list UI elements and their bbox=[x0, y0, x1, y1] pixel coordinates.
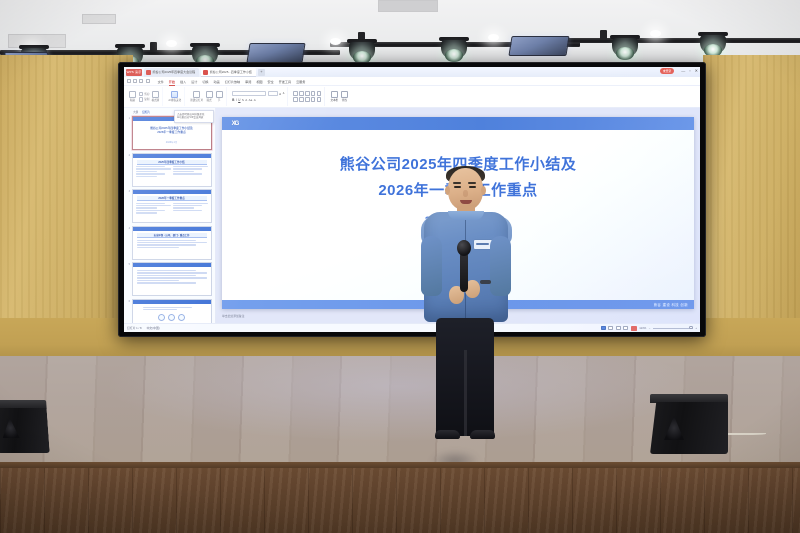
presenter-brow-left bbox=[453, 182, 461, 184]
strikethrough-button[interactable]: S bbox=[242, 98, 244, 102]
ribbon-tab-security[interactable]: 安全 bbox=[268, 79, 274, 84]
line-spacing-icon[interactable] bbox=[317, 91, 322, 96]
decrease-indent-icon[interactable] bbox=[305, 91, 310, 96]
italic-button[interactable]: I bbox=[236, 98, 237, 102]
ribbon-tab-cloud[interactable]: 云服务 bbox=[296, 79, 305, 84]
microphone-body bbox=[460, 252, 468, 292]
minimize-icon[interactable]: — bbox=[681, 68, 685, 74]
slideshow-play-icon[interactable] bbox=[631, 326, 637, 331]
ribbon-tab-transition[interactable]: 切换 bbox=[202, 79, 208, 84]
thumb-text-line bbox=[136, 210, 166, 211]
slide-thumbnail-5[interactable] bbox=[132, 262, 212, 296]
thumb-text-line bbox=[137, 242, 207, 243]
copy-label: 复制 bbox=[144, 97, 149, 101]
underline-button[interactable]: U bbox=[238, 98, 240, 102]
led-display-bezel: WPS 演示 熊谷公司2025年四季度大会议程 熊谷公司2025...四季度工作… bbox=[118, 62, 706, 337]
layout-button[interactable]: 版式 bbox=[205, 91, 213, 103]
status-bar-right: 113% − + bbox=[601, 326, 697, 331]
thumb-text-line bbox=[137, 275, 197, 276]
diagram-shape bbox=[158, 314, 165, 321]
align-right-icon[interactable] bbox=[305, 97, 310, 102]
textbox-icon bbox=[331, 91, 338, 98]
editor-workarea: 大纲 幻灯片 点击即可开启AI排版美化 AI功能仅对VIP会员开放 1 熊谷公司… bbox=[124, 108, 700, 323]
thumb-text-line bbox=[136, 168, 171, 169]
thumb-text-line bbox=[136, 171, 157, 172]
font-family-select[interactable] bbox=[232, 91, 266, 96]
diagram-shape bbox=[168, 314, 175, 321]
thumb-text-line bbox=[143, 307, 192, 308]
zoom-slider-knob[interactable] bbox=[689, 326, 693, 330]
font-format-row[interactable]: B I U S A Aa A bbox=[232, 98, 284, 102]
text-color-button[interactable]: A bbox=[254, 98, 256, 102]
increase-font-icon[interactable]: A bbox=[279, 92, 281, 96]
presenter-ear-left bbox=[445, 186, 450, 195]
thumb-column bbox=[173, 166, 208, 178]
thumbnail-row[interactable]: 5 bbox=[127, 262, 213, 296]
presentation-room-scene: WPS 演示 熊谷公司2025年四季度大会议程 熊谷公司2025...四季度工作… bbox=[0, 0, 800, 533]
thumb-text-line bbox=[137, 247, 179, 248]
thumb-text-line bbox=[136, 166, 166, 167]
cut-icon bbox=[139, 92, 144, 97]
ai-beautify-button[interactable]: AI排版美化 bbox=[168, 91, 181, 103]
document-tab-label: 熊谷公司2025年四季度大会议程 bbox=[153, 70, 196, 74]
thumbnail-number: 4 bbox=[127, 226, 130, 230]
paste-icon bbox=[129, 91, 136, 98]
cut-button[interactable]: 剪切 bbox=[139, 92, 150, 97]
login-button[interactable]: 未登录 bbox=[660, 68, 674, 74]
textbox-button[interactable]: 文本框 bbox=[330, 91, 338, 103]
led-panel-light bbox=[508, 36, 569, 56]
thumb-column bbox=[173, 203, 208, 215]
document-tab-2[interactable]: 熊谷公司2025...四季度工作小结 bbox=[201, 68, 256, 77]
thumb-text-line bbox=[136, 207, 157, 208]
format-painter-icon bbox=[152, 91, 159, 98]
ribbon-group-font: A A B I U S A Aa A bbox=[230, 87, 288, 106]
save-icon[interactable] bbox=[127, 79, 131, 83]
floor-monitor-speaker-left bbox=[0, 400, 50, 456]
thumb-text-line bbox=[173, 207, 194, 208]
spotlight-lens bbox=[616, 47, 634, 60]
redo-icon[interactable] bbox=[139, 79, 143, 83]
presenter-shoe-left bbox=[435, 430, 460, 439]
presentation-file-icon bbox=[146, 70, 151, 75]
thumb-header-band bbox=[133, 263, 211, 267]
thumb-text-line bbox=[137, 272, 207, 273]
slide-thumbnail-panel[interactable]: 大纲 幻灯片 点击即可开启AI排版美化 AI功能仅对VIP会员开放 1 熊谷公司… bbox=[124, 108, 216, 323]
wps-presentation-window[interactable]: WPS 演示 熊谷公司2025年四季度大会议程 熊谷公司2025...四季度工作… bbox=[124, 67, 700, 332]
thumb-text-line bbox=[137, 280, 179, 281]
thumb-date: 2026年1月 bbox=[133, 140, 211, 144]
ribbon-tab-animation[interactable]: 动画 bbox=[214, 79, 220, 84]
ribbon-toolbar[interactable]: 粘贴 剪切 复制 bbox=[124, 86, 700, 108]
ribbon-group-paragraph bbox=[291, 87, 325, 106]
window-controls: 未登录 — ▫ ✕ bbox=[660, 68, 698, 74]
copy-button[interactable]: 复制 bbox=[139, 97, 150, 102]
presenter-sleeve-left bbox=[421, 236, 442, 296]
undo-icon[interactable] bbox=[133, 79, 137, 83]
char-spacing-button[interactable]: Aa bbox=[249, 98, 253, 102]
thumb-title: 2025年四季度工作小结 bbox=[137, 160, 207, 165]
ribbon-group-editing: 文本框 查找 bbox=[328, 87, 351, 106]
thumb-body bbox=[143, 307, 201, 311]
notes-view-icon[interactable] bbox=[623, 326, 628, 330]
thumb-text-line bbox=[136, 173, 166, 174]
ribbon-tab-review[interactable]: 审阅 bbox=[245, 79, 251, 84]
ribbon-group-ai: AI排版美化 bbox=[166, 87, 185, 106]
ceiling-downlight bbox=[330, 38, 341, 45]
ribbon-group-clipboard: 粘贴 剪切 复制 bbox=[126, 87, 163, 106]
ribbon-tab-developer[interactable]: 开发工具 bbox=[279, 79, 291, 84]
speaker-cable bbox=[726, 432, 766, 435]
presenter-ear-right bbox=[481, 186, 486, 195]
ceiling-downlight bbox=[166, 40, 177, 47]
number-list-icon[interactable] bbox=[299, 91, 304, 96]
thumbnail-row[interactable]: 6 bbox=[127, 299, 213, 324]
section-label: 节 bbox=[218, 98, 221, 102]
align-left-icon[interactable] bbox=[293, 97, 298, 102]
floor-monitor-speaker-right bbox=[650, 394, 728, 456]
bullet-list-icon[interactable] bbox=[293, 91, 298, 96]
format-painter-button[interactable]: 格式刷 bbox=[151, 91, 159, 103]
cut-label: 剪切 bbox=[144, 92, 149, 96]
truss-riser bbox=[600, 30, 607, 40]
thumbnail-row[interactable]: 3 2026年一季度工作重点 bbox=[127, 189, 213, 223]
ribbon-tab-strip[interactable]: 文件 开始 插入 设计 切换 动画 幻灯片放映 审阅 视图 安全 开发工具 云服… bbox=[124, 77, 700, 86]
thumb-title-line2: 2026年一季度工作重点 bbox=[133, 130, 211, 134]
thumb-text-line bbox=[173, 173, 203, 174]
presenter-sleeve-right bbox=[490, 236, 511, 296]
textbox-label: 文本框 bbox=[330, 98, 338, 102]
find-label: 查找 bbox=[342, 98, 347, 102]
notes-placeholder: 单击此处添加备注 bbox=[222, 314, 244, 318]
thumb-text-line bbox=[137, 240, 197, 241]
layout-icon bbox=[206, 91, 213, 98]
slide-sorter-icon[interactable] bbox=[608, 326, 613, 330]
presenter-nose bbox=[463, 190, 468, 197]
presenter-leg-gap bbox=[464, 350, 467, 436]
tooltip-line-2: AI功能仅对VIP会员开放 bbox=[177, 116, 211, 119]
slide-thumbnail-4[interactable]: 安全环保（公司、部门）重点工作 bbox=[132, 226, 212, 260]
thumbnail-number: 2 bbox=[127, 153, 130, 157]
zoom-slider[interactable] bbox=[653, 328, 693, 329]
reading-view-icon[interactable] bbox=[616, 326, 621, 330]
bold-button[interactable]: B bbox=[232, 98, 234, 102]
spotlight-lens bbox=[445, 49, 463, 62]
speaker-top-panel bbox=[650, 394, 728, 403]
close-icon[interactable]: ✕ bbox=[695, 68, 698, 74]
thumbnail-number: 6 bbox=[127, 299, 130, 303]
speaker-cabinet bbox=[650, 402, 728, 454]
increase-indent-icon[interactable] bbox=[311, 91, 316, 96]
diagram-shape bbox=[178, 314, 185, 321]
thumbnail-row[interactable]: 2 2025年四季度工作小结 bbox=[127, 153, 213, 187]
ribbon-tab-slideshow[interactable]: 幻灯片放映 bbox=[225, 79, 240, 84]
led-display-screen[interactable]: WPS 演示 熊谷公司2025年四季度大会议程 熊谷公司2025...四季度工作… bbox=[124, 67, 700, 332]
window-titlebar: WPS 演示 熊谷公司2025年四季度大会议程 熊谷公司2025...四季度工作… bbox=[124, 67, 700, 77]
ribbon-tab-design[interactable]: 设计 bbox=[191, 79, 197, 84]
document-tab-label: 熊谷公司2025...四季度工作小结 bbox=[210, 70, 252, 74]
thumb-text-line bbox=[173, 171, 194, 172]
ai-beautify-tooltip: 点击即可开启AI排版美化 AI功能仅对VIP会员开放 bbox=[174, 110, 214, 123]
ceiling-downlight bbox=[488, 34, 499, 41]
print-icon[interactable] bbox=[146, 79, 150, 83]
company-logo: XG bbox=[227, 119, 243, 128]
ribbon-tab-view[interactable]: 视图 bbox=[256, 79, 262, 84]
thumb-text-line bbox=[173, 210, 203, 211]
thumb-text-line bbox=[173, 166, 208, 167]
led-panel-light bbox=[246, 43, 305, 63]
thumb-column bbox=[136, 166, 171, 178]
presenter bbox=[418, 168, 514, 488]
normal-view-icon[interactable] bbox=[601, 326, 606, 330]
thumbnail-number: 3 bbox=[127, 189, 130, 193]
thumbnail-number: 1 bbox=[127, 116, 130, 120]
ceiling-vent bbox=[82, 14, 116, 24]
section-icon bbox=[216, 91, 223, 98]
truss-riser bbox=[150, 42, 157, 52]
thumb-text-line bbox=[173, 205, 203, 206]
thumb-title: 2026年一季度工作重点 bbox=[137, 196, 207, 201]
new-slide-label: 新建幻灯片 bbox=[190, 98, 203, 102]
paste-label: 粘贴 bbox=[130, 98, 135, 102]
thumbnail-number: 5 bbox=[127, 262, 130, 266]
thumb-text-line bbox=[173, 203, 208, 204]
wps-logo: WPS 演示 bbox=[126, 69, 142, 76]
thumb-body bbox=[137, 240, 207, 249]
section-button[interactable]: 节 bbox=[215, 91, 223, 103]
thumb-text-line bbox=[136, 203, 166, 204]
copy-icon bbox=[139, 97, 144, 102]
presenter-brow-right bbox=[468, 182, 476, 184]
wall-panel-left bbox=[0, 55, 133, 355]
ribbon-tab-file[interactable]: 文件 bbox=[158, 79, 164, 84]
slides-view-tab[interactable]: 幻灯片 bbox=[142, 110, 150, 114]
zoom-out-button[interactable]: − bbox=[649, 326, 651, 330]
outline-view-tab[interactable]: 大纲 bbox=[133, 110, 138, 114]
slide-thumbnail-3[interactable]: 2026年一季度工作重点 bbox=[132, 189, 212, 223]
format-painter-label: 格式刷 bbox=[151, 98, 159, 102]
presenter-shoe-right bbox=[470, 430, 495, 439]
speaker-top-panel bbox=[0, 400, 47, 409]
presenter-collar bbox=[448, 211, 484, 220]
stage-front-panel bbox=[0, 468, 800, 533]
font-size-select[interactable] bbox=[268, 91, 278, 96]
zoom-level-label[interactable]: 113% bbox=[639, 326, 646, 330]
text-direction-icon[interactable] bbox=[317, 97, 322, 102]
find-button[interactable]: 查找 bbox=[340, 91, 348, 103]
new-tab-button[interactable]: + bbox=[258, 69, 265, 76]
decrease-font-icon[interactable]: A bbox=[283, 92, 285, 95]
slide-thumbnail-2[interactable]: 2025年四季度工作小结 bbox=[132, 153, 212, 187]
language-indicator[interactable]: 中文(中国) bbox=[147, 326, 160, 330]
find-icon bbox=[341, 91, 348, 98]
document-tab-1[interactable]: 熊谷公司2025年四季度大会议程 bbox=[144, 68, 199, 77]
slide-footer-text: 熊谷 建设 科技 创新 bbox=[654, 302, 688, 307]
thumb-text-line bbox=[137, 282, 197, 283]
thumb-text-line bbox=[137, 270, 197, 271]
slide-counter: 幻灯片 1 / 8 bbox=[127, 326, 142, 330]
presentation-file-icon bbox=[203, 70, 208, 75]
paste-button[interactable]: 粘贴 bbox=[129, 91, 137, 103]
lighting-truss bbox=[560, 38, 800, 43]
thumb-header-band bbox=[133, 154, 211, 158]
microphone-head bbox=[457, 240, 471, 256]
presenter-watch bbox=[480, 280, 491, 284]
ai-beautify-label: AI排版美化 bbox=[168, 98, 181, 102]
new-slide-button[interactable]: 新建幻灯片 bbox=[190, 91, 203, 103]
quick-access-toolbar[interactable] bbox=[127, 79, 150, 83]
new-slide-icon bbox=[193, 91, 200, 98]
thumb-text-line bbox=[143, 309, 178, 310]
thumb-header-band bbox=[133, 190, 211, 194]
ribbon-group-slides: 新建幻灯片 版式 节 bbox=[188, 87, 227, 106]
thumbnail-row[interactable]: 4 安全环保（公司、部门）重点工作 bbox=[127, 226, 213, 260]
align-center-icon[interactable] bbox=[299, 97, 304, 102]
thumb-columns bbox=[136, 166, 208, 178]
ceiling-vent bbox=[378, 0, 438, 12]
zoom-in-button[interactable]: + bbox=[695, 326, 697, 330]
thumb-columns bbox=[136, 203, 208, 215]
justify-icon[interactable] bbox=[311, 97, 316, 102]
thumb-header-band bbox=[133, 227, 211, 231]
thumb-header-band bbox=[133, 300, 211, 304]
thumb-title: 安全环保（公司、部门）重点工作 bbox=[137, 233, 207, 238]
text-shadow-button[interactable]: A bbox=[245, 98, 247, 102]
ribbon-tab-home[interactable]: 开始 bbox=[169, 79, 175, 84]
slide-header-band: XG bbox=[222, 117, 694, 130]
layout-label: 版式 bbox=[207, 98, 212, 102]
maximize-icon[interactable]: ▫ bbox=[689, 68, 690, 74]
thumb-text-line bbox=[136, 205, 171, 206]
thumb-text-line bbox=[136, 176, 157, 177]
thumb-text-line bbox=[137, 277, 207, 278]
thumb-text-line bbox=[136, 212, 157, 213]
slide-thumbnail-6[interactable] bbox=[132, 299, 212, 324]
ribbon-tab-insert[interactable]: 插入 bbox=[180, 79, 186, 84]
thumb-text-line bbox=[173, 168, 203, 169]
thumb-text-line bbox=[137, 244, 197, 245]
thumb-diagram-shapes bbox=[133, 314, 211, 321]
ceiling-downlight bbox=[650, 30, 661, 37]
wall-panel-right bbox=[703, 55, 800, 355]
thumb-body bbox=[137, 270, 207, 284]
ai-beautify-icon bbox=[171, 91, 178, 98]
thumb-column bbox=[136, 203, 171, 215]
status-bar: 幻灯片 1 / 8 中文(中国) 113% − + bbox=[124, 323, 700, 332]
